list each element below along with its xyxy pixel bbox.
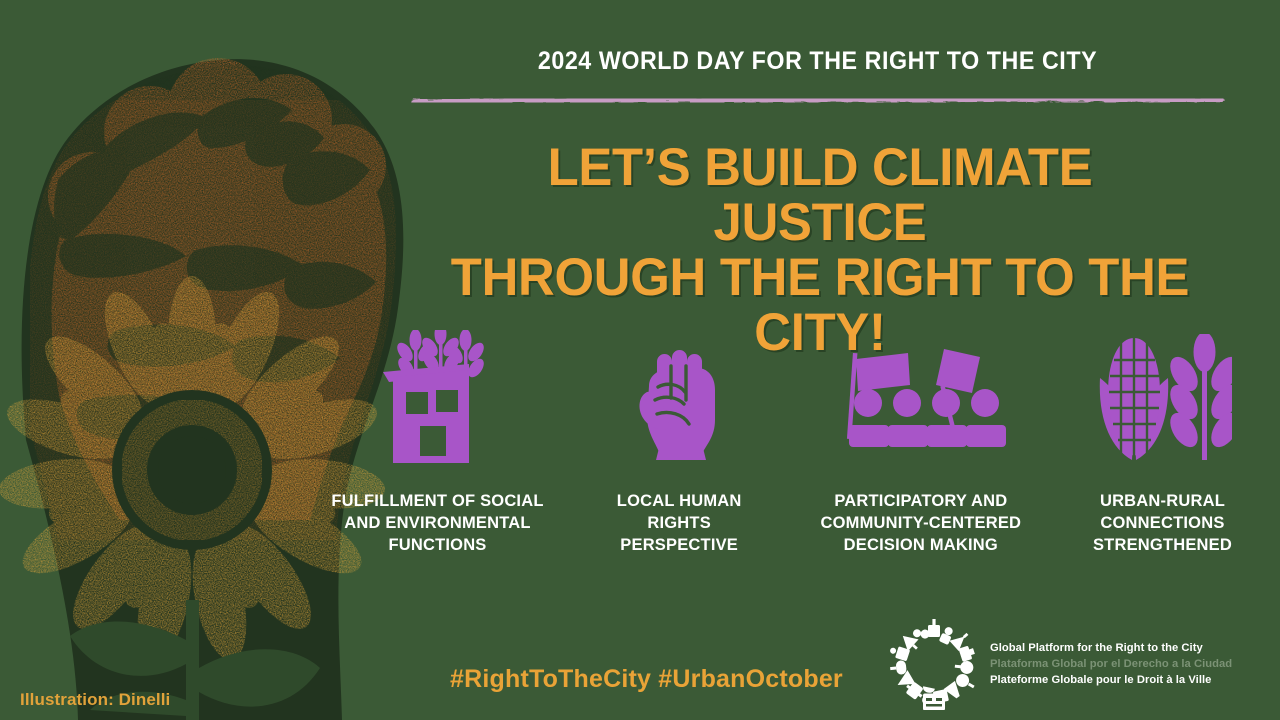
pillar-label: URBAN-RURAL CONNECTIONS STRENGTHENED [1062, 490, 1262, 556]
logo-line-english: Global Platform for the Right to the Cit… [990, 641, 1232, 655]
pillar-item: LOCAL HUMAN RIGHTS PERSPECTIVE [572, 330, 787, 556]
pillar-label: FULFILLMENT OF SOCIAL AND ENVIRONMENTAL … [330, 490, 545, 556]
illustration-credit: Illustration: Dinelli [20, 690, 170, 710]
pillars-row: FULFILLMENT OF SOCIAL AND ENVIRONMENTAL … [330, 330, 1270, 600]
headline-line-1: LET’S BUILD CLIMATE JUSTICE [441, 140, 1199, 250]
page-eyebrow-title: 2024 WORLD DAY FOR THE RIGHT TO THE CITY [439, 47, 1197, 76]
headline-line-2: THROUGH THE RIGHT TO THE [441, 250, 1199, 305]
page-headline: LET’S BUILD CLIMATE JUSTICE THROUGH THE … [441, 140, 1199, 360]
circle-of-pictograms-logo-icon [888, 618, 980, 710]
logo-line-french: Plateforme Globale pour le Droit à la Vi… [990, 673, 1232, 687]
pillar-label: LOCAL HUMAN RIGHTS PERSPECTIVE [594, 490, 764, 556]
poster-canvas: 2024 WORLD DAY FOR THE RIGHT TO THE CITY… [0, 0, 1280, 720]
raised-fist-icon [631, 330, 727, 470]
pillar-item: PARTICIPATORY AND COMMUNITY-CENTERED DEC… [813, 330, 1028, 556]
pillar-item: URBAN-RURAL CONNECTIONS STRENGTHENED [1055, 330, 1270, 556]
logo-line-spanish: Plataforma Global por el Derecho a la Ci… [990, 657, 1232, 671]
brushstroke-divider-icon [410, 94, 1225, 105]
pillar-item: FULFILLMENT OF SOCIAL AND ENVIRONMENTAL … [330, 330, 545, 556]
organization-logo-text: Global Platform for the Right to the Cit… [990, 641, 1232, 687]
crowd-with-protest-flags-icon [834, 330, 1008, 470]
corn-and-wheat-icon [1092, 330, 1232, 470]
hashtags-text: #RightToTheCity #UrbanOctober [450, 665, 843, 694]
organization-logo: Global Platform for the Right to the Cit… [888, 618, 1232, 710]
building-with-rooftop-plants-icon [377, 330, 499, 470]
pillar-label: PARTICIPATORY AND COMMUNITY-CENTERED DEC… [808, 490, 1033, 556]
